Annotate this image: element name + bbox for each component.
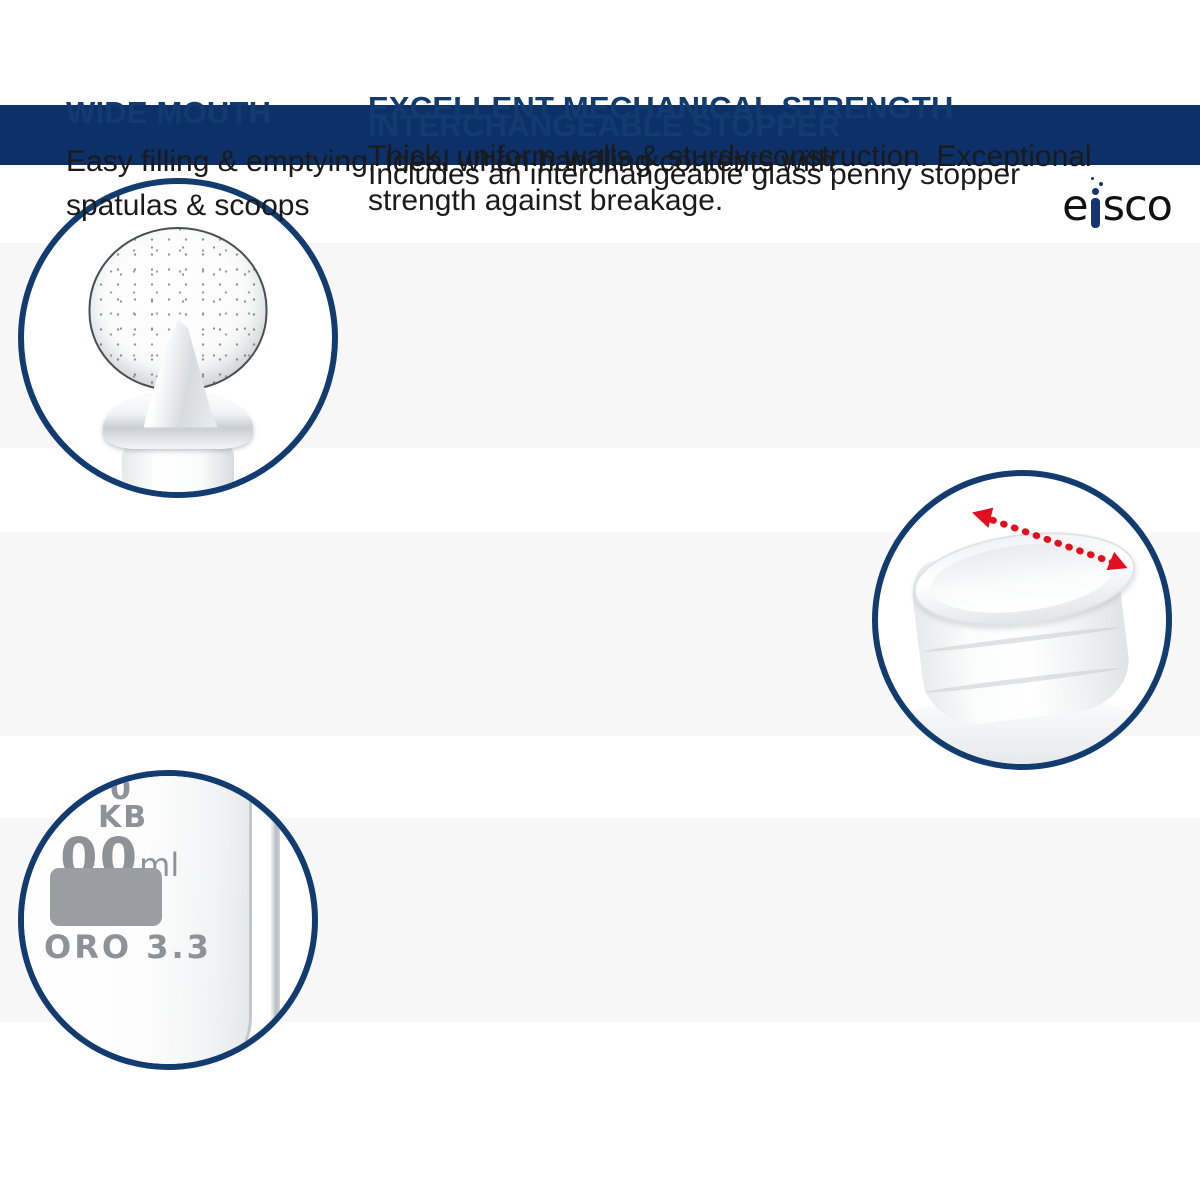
stopper-neck [122,443,234,498]
marking-label-box [50,868,162,926]
feature-3-text: EXCELLENT MECHANICAL STRENGTH Thick, uni… [368,90,1128,222]
marking-glass-type: ORO 3.3 [44,928,212,966]
glass-penny-stopper-photo [24,184,332,492]
feature-2-image-circle [872,470,1172,770]
feature-3-title: EXCELLENT MECHANICAL STRENGTH [368,90,1128,126]
feature-3-image-circle: 0 KB 00ml ORO 3.3 [18,770,318,1070]
feature-3-description: Thick, uniform walls & sturdy constructi… [368,135,1128,222]
bottle-wall-markings-photo: 0 KB 00ml ORO 3.3 [24,776,312,1064]
bottle-edge-highlight [270,770,280,1058]
wide-mouth-opening-photo [878,476,1166,764]
